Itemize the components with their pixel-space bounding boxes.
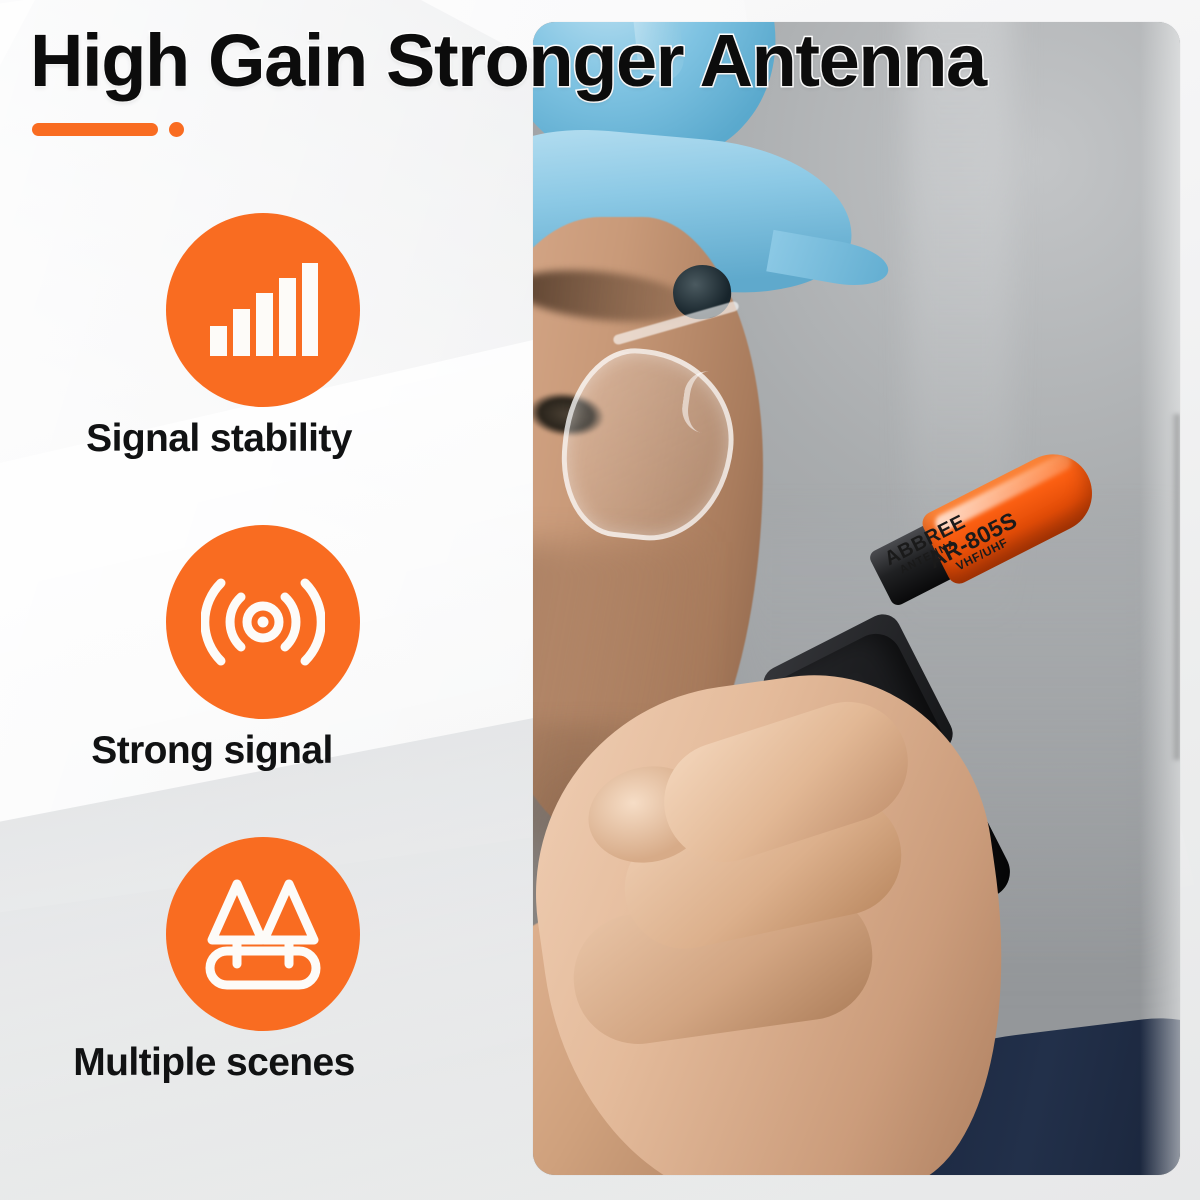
- feature-icon-badge: [166, 525, 360, 719]
- feature-icon-badge: [166, 837, 360, 1031]
- accent-underline: [32, 122, 184, 137]
- feature-label: Multiple scenes: [0, 1041, 428, 1085]
- forest-trees-icon: [202, 876, 324, 992]
- feature-item-signal-stability: Signal stability: [0, 205, 520, 517]
- feature-list: Signal stability: [0, 205, 520, 1141]
- photo-right-light: [1140, 22, 1180, 1175]
- product-feature-poster: High Gain Stronger Antenna Signal stabil…: [0, 0, 1200, 1200]
- feature-item-strong-signal: Strong signal: [0, 517, 520, 829]
- feature-label: Strong signal: [0, 729, 424, 773]
- accent-bar: [32, 123, 158, 136]
- feature-item-multiple-scenes: Multiple scenes: [0, 829, 520, 1141]
- page-title: High Gain Stronger Antenna: [30, 22, 1180, 100]
- product-photo: ABBREE ANTENNA AR-805S VHF/UHF: [533, 22, 1180, 1175]
- feature-icon-badge: [166, 213, 360, 407]
- broadcast-waves-icon: [201, 566, 325, 678]
- accent-dot: [169, 122, 184, 137]
- feature-label: Signal stability: [0, 417, 438, 461]
- signal-bars-icon: [208, 262, 318, 358]
